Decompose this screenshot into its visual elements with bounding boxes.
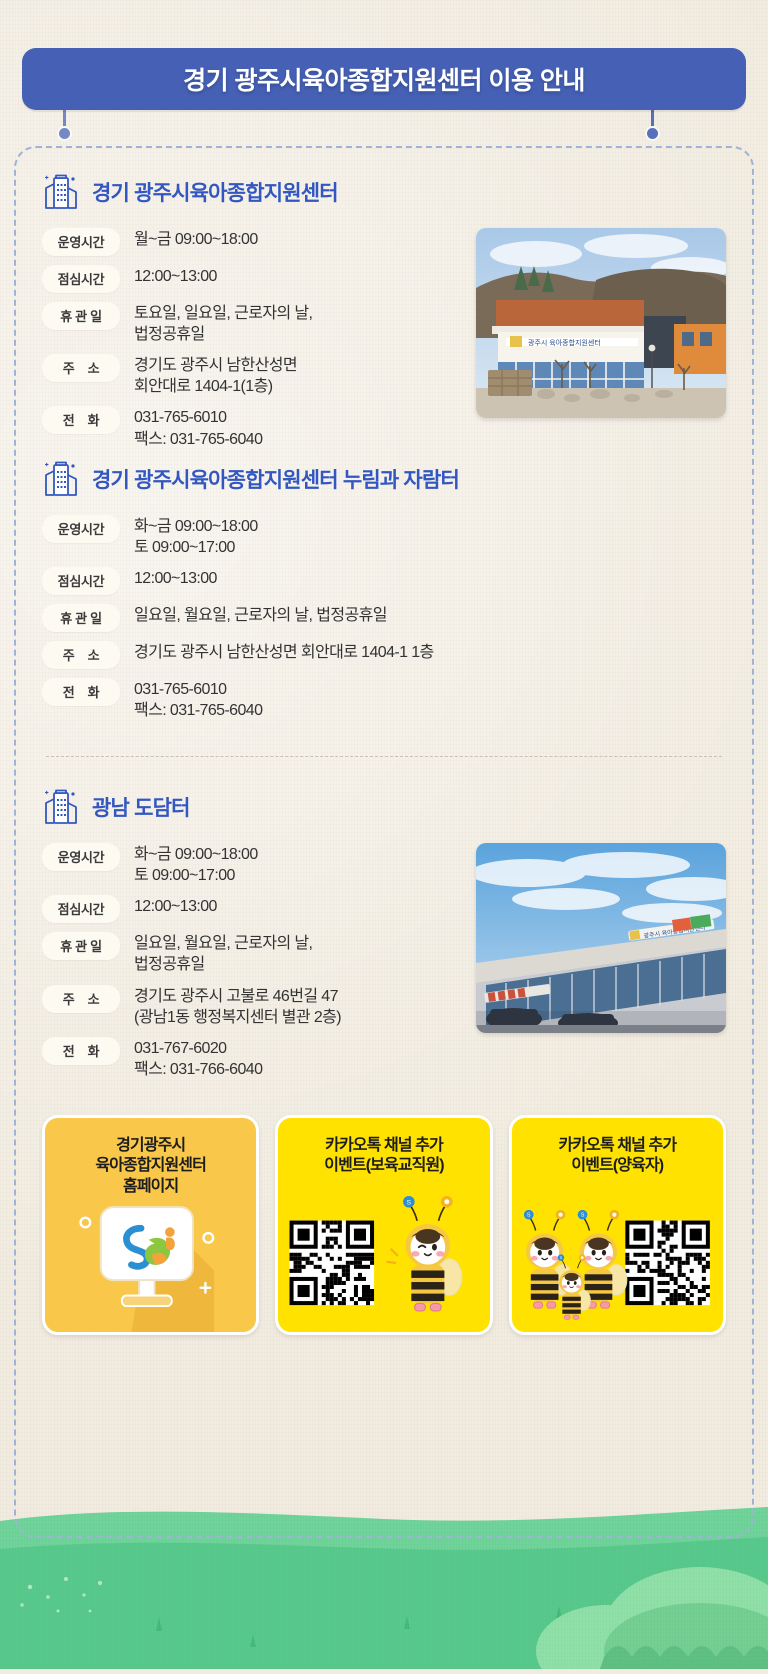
info-row: 주 소 경기도 광주시 남한산성면 회안대로 1404-1(1층) xyxy=(42,354,462,397)
svg-text:S: S xyxy=(407,1199,412,1206)
info-value: 경기도 광주시 남한산성면 회안대로 1404-1(1층) xyxy=(120,354,297,397)
section-header-center-main: 경기 광주시육아종합지원센터 xyxy=(42,172,726,212)
info-label: 주 소 xyxy=(42,641,120,669)
building-icon xyxy=(42,459,80,499)
banner-pin-right xyxy=(648,108,656,141)
info-value: 월~금 09:00~18:00 xyxy=(120,228,258,250)
section-gwangnam-dodamteo: 광남 도담터 운영시간 화~금 09:00~18:00 토 09:00~17:0… xyxy=(42,787,726,1089)
building-icon xyxy=(42,172,80,212)
section-title: 광남 도담터 xyxy=(92,792,190,822)
card-label: 카카오톡 채널 추가 이벤트(양육자) xyxy=(512,1118,723,1177)
info-row: 운영시간 월~금 09:00~18:00 xyxy=(42,228,462,256)
info-row: 주 소 경기도 광주시 고불로 46번길 47 (광남1동 행정복지센터 별관 … xyxy=(42,985,462,1028)
info-label: 전 화 xyxy=(42,1037,120,1065)
info-label: 주 소 xyxy=(42,985,120,1013)
info-label: 휴 관 일 xyxy=(42,932,120,960)
banner-pin-left xyxy=(60,108,68,141)
qr-bee-family-icon[interactable]: S S xyxy=(512,1182,723,1332)
card-label: 카카오톡 채널 추가 이벤트(보육교직원) xyxy=(278,1118,489,1177)
qr-card-row: 경기광주시 육아종합지원센터 홈페이지 카카오톡 채널 추가 이벤트(보육교직원… xyxy=(42,1115,726,1335)
info-label: 운영시간 xyxy=(42,843,120,871)
info-value: 경기도 광주시 남한산성면 회안대로 1404-1 1층 xyxy=(120,641,434,663)
info-row: 운영시간 화~금 09:00~18:00 토 09:00~17:00 xyxy=(42,515,726,558)
info-label: 점심시간 xyxy=(42,895,120,923)
info-value: 일요일, 월요일, 근로자의 날, 법정공휴일 xyxy=(120,932,312,975)
kakao-teacher-card[interactable]: 카카오톡 채널 추가 이벤트(보육교직원) S xyxy=(275,1115,492,1335)
info-table-nurim-jaram: 운영시간 화~금 09:00~18:00 토 09:00~17:00 점심시간 … xyxy=(42,515,726,730)
svg-text:S: S xyxy=(527,1213,531,1219)
info-value: 경기도 광주시 고불로 46번길 47 (광남1동 행정복지센터 별관 2층) xyxy=(120,985,341,1028)
building-photo-gwangnam-dodamteo: 광주시 육아종합지원센터 xyxy=(476,843,726,1033)
building-photo-center-main: 광주시 육아종합지원센터 xyxy=(476,228,726,418)
content-area: 경기 광주시육아종합지원센터 운영시간 월~금 09:00~18:00 점심시간… xyxy=(14,146,754,1335)
svg-text:S: S xyxy=(580,1213,584,1219)
info-table-center-main: 운영시간 월~금 09:00~18:00 점심시간 12:00~13:00 휴 … xyxy=(42,228,462,459)
info-value: 031-765-6010 팩스: 031-765-6040 xyxy=(120,678,262,721)
info-value: 12:00~13:00 xyxy=(120,265,217,287)
info-row: 휴 관 일 토요일, 일요일, 근로자의 날, 법정공휴일 xyxy=(42,302,462,345)
info-value: 031-765-6010 팩스: 031-765-6040 xyxy=(120,406,262,449)
info-label: 점심시간 xyxy=(42,265,120,293)
info-value: 화~금 09:00~18:00 토 09:00~17:00 xyxy=(120,515,258,558)
page-title: 경기 광주시육아종합지원센터 이용 안내 xyxy=(183,61,585,97)
kakao-parent-card[interactable]: 카카오톡 채널 추가 이벤트(양육자) S xyxy=(509,1115,726,1335)
section-divider xyxy=(46,756,722,757)
info-label: 휴 관 일 xyxy=(42,604,120,632)
section-header-nurim-jaram: 경기 광주시육아종합지원센터 누림과 자람터 xyxy=(42,459,726,499)
info-value: 12:00~13:00 xyxy=(120,567,217,589)
card-label: 경기광주시 육아종합지원센터 홈페이지 xyxy=(45,1118,256,1197)
building-icon xyxy=(42,787,80,827)
qr-bee-single-icon[interactable]: S xyxy=(278,1182,489,1332)
info-value: 031-767-6020 팩스: 031-766-6040 xyxy=(120,1037,262,1080)
info-label: 전 화 xyxy=(42,678,120,706)
info-row: 주 소 경기도 광주시 남한산성면 회안대로 1404-1 1층 xyxy=(42,641,726,669)
section-nurim-jaram: 경기 광주시육아종합지원센터 누림과 자람터 운영시간 화~금 09:00~18… xyxy=(42,459,726,730)
info-row: 점심시간 12:00~13:00 xyxy=(42,895,462,923)
info-row: 점심시간 12:00~13:00 xyxy=(42,265,462,293)
info-label: 운영시간 xyxy=(42,515,120,543)
section-header-gwangnam-dodamteo: 광남 도담터 xyxy=(42,787,726,827)
info-label: 휴 관 일 xyxy=(42,302,120,330)
info-row: 전 화 031-765-6010 팩스: 031-765-6040 xyxy=(42,678,726,721)
info-value: 일요일, 월요일, 근로자의 날, 법정공휴일 xyxy=(120,604,387,626)
svg-text:광주시 육아종합지원센터: 광주시 육아종합지원센터 xyxy=(528,338,601,347)
section-center-main: 경기 광주시육아종합지원센터 운영시간 월~금 09:00~18:00 점심시간… xyxy=(42,172,726,459)
title-banner: 경기 광주시육아종합지원센터 이용 안내 xyxy=(0,48,768,110)
section-title: 경기 광주시육아종합지원센터 누림과 자람터 xyxy=(92,464,459,494)
info-row: 휴 관 일 일요일, 월요일, 근로자의 날, 법정공휴일 xyxy=(42,932,462,975)
info-table-gwangnam-dodamteo: 운영시간 화~금 09:00~18:00 토 09:00~17:00 점심시간 … xyxy=(42,843,462,1089)
info-label: 점심시간 xyxy=(42,567,120,595)
info-value: 12:00~13:00 xyxy=(120,895,217,917)
info-value: 토요일, 일요일, 근로자의 날, 법정공휴일 xyxy=(120,302,312,345)
info-row: 운영시간 화~금 09:00~18:00 토 09:00~17:00 xyxy=(42,843,462,886)
info-row: 휴 관 일 일요일, 월요일, 근로자의 날, 법정공휴일 xyxy=(42,604,726,632)
info-row: 전 화 031-767-6020 팩스: 031-766-6040 xyxy=(42,1037,462,1080)
info-value: 화~금 09:00~18:00 토 09:00~17:00 xyxy=(120,843,258,886)
info-label: 운영시간 xyxy=(42,228,120,256)
info-row: 전 화 031-765-6010 팩스: 031-765-6040 xyxy=(42,406,462,449)
homepage-card[interactable]: 경기광주시 육아종합지원센터 홈페이지 xyxy=(42,1115,259,1335)
info-label: 주 소 xyxy=(42,354,120,382)
info-label: 전 화 xyxy=(42,406,120,434)
monitor-logo-icon[interactable] xyxy=(45,1182,256,1332)
info-row: 점심시간 12:00~13:00 xyxy=(42,567,726,595)
section-title: 경기 광주시육아종합지원센터 xyxy=(92,177,338,207)
